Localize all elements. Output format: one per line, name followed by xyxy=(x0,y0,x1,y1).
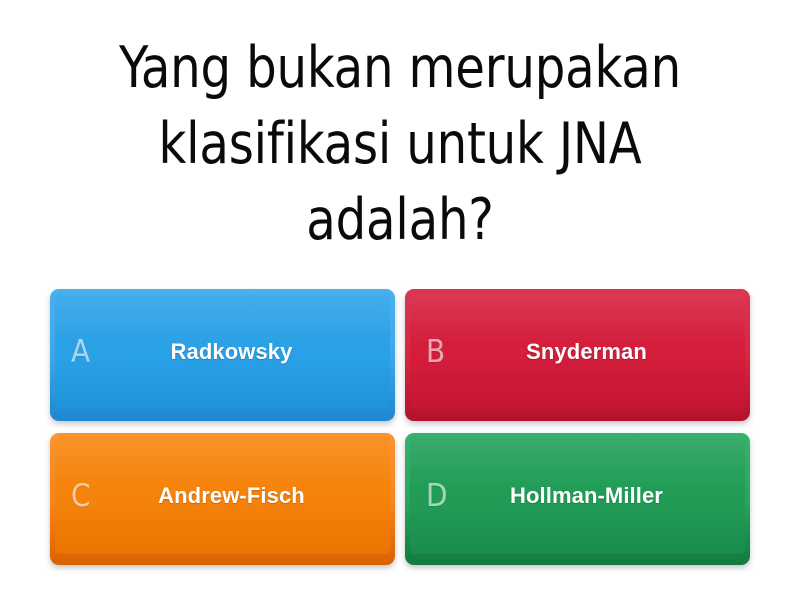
answer-label-d: Hollman-Miller xyxy=(460,483,731,508)
answer-option-b[interactable]: B Snyderman xyxy=(405,289,750,421)
answer-option-a[interactable]: A Radkowsky xyxy=(50,289,395,421)
question-text: Yang bukan merupakan klasifikasi untuk J… xyxy=(90,31,710,258)
answer-options-grid: A Radkowsky B Snyderman C Andrew-Fisch D… xyxy=(50,289,750,565)
answer-option-a-face: A Radkowsky xyxy=(55,294,390,410)
answer-option-b-face: B Snyderman xyxy=(410,294,745,410)
answer-letter-a: A xyxy=(71,337,105,368)
answer-letter-c: C xyxy=(71,481,105,512)
question-area: Yang bukan merupakan klasifikasi untuk J… xyxy=(0,0,800,280)
answer-label-c: Andrew-Fisch xyxy=(105,483,376,508)
answer-label-a: Radkowsky xyxy=(105,339,376,364)
quiz-screen: Yang bukan merupakan klasifikasi untuk J… xyxy=(0,0,800,600)
answer-letter-b: B xyxy=(426,337,460,368)
answer-option-d-face: D Hollman-Miller xyxy=(410,438,745,554)
answer-option-c-face: C Andrew-Fisch xyxy=(55,438,390,554)
answer-letter-d: D xyxy=(426,481,460,512)
answer-option-d[interactable]: D Hollman-Miller xyxy=(405,433,750,565)
answer-option-c[interactable]: C Andrew-Fisch xyxy=(50,433,395,565)
answer-label-b: Snyderman xyxy=(460,339,731,364)
